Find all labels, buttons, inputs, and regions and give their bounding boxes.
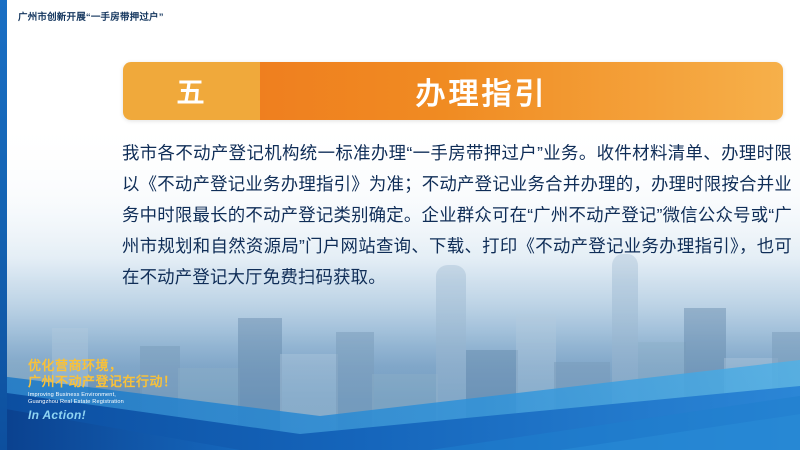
slogan-en-line2: Guangzhou Real Estate Registration <box>28 400 177 406</box>
slogan-cn-line2: 广州不动产登记在行动！ <box>28 375 177 389</box>
footer-slogan: 优化营商环境， 广州不动产登记在行动！ Improving Business E… <box>28 359 177 422</box>
section-number: 五 <box>176 71 206 111</box>
left-edge-bar <box>0 0 7 450</box>
section-title: 办理指引 <box>416 69 548 113</box>
slogan-en-line1: Improving Business Environment, <box>28 393 177 399</box>
section-number-box: 五 <box>123 62 260 120</box>
header-title: 广州市创新开展“一手房带押过户” <box>18 9 164 23</box>
slide: 广州市创新开展“一手房带押过户” 五 办理指引 我市各不动产登记机构统一标准办理… <box>0 0 800 450</box>
section-title-bar: 五 办理指引 <box>123 62 783 120</box>
slide-header: 广州市创新开展“一手房带押过户” <box>0 0 800 30</box>
slogan-cn-line1: 优化营商环境， <box>28 359 177 373</box>
body-paragraph: 我市各不动产登记机构统一标准办理“一手房带押过户”业务。收件材料清单、办理时限以… <box>122 138 792 293</box>
slogan-en-line3: In Action! <box>28 409 177 422</box>
section-title-box: 办理指引 <box>260 62 783 120</box>
